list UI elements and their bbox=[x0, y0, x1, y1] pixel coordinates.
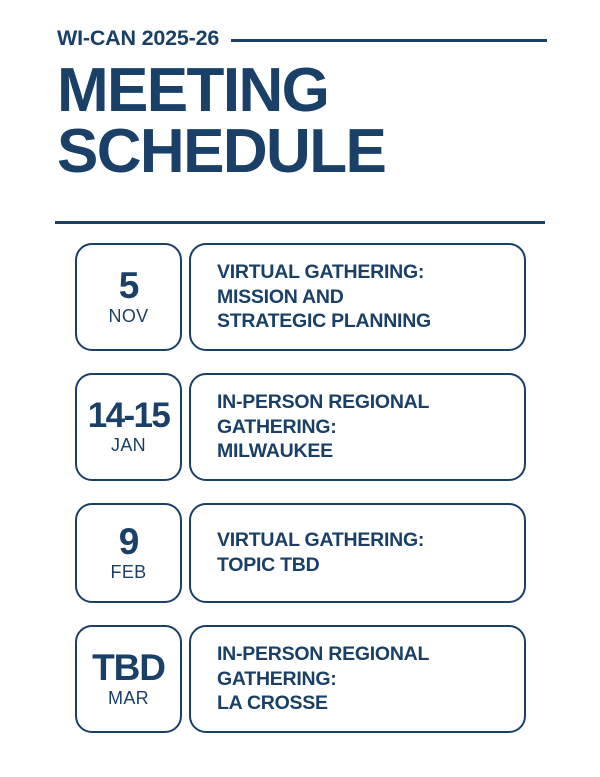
event-day: TBD bbox=[92, 649, 165, 686]
event-title-line-1: IN-PERSON REGIONAL bbox=[217, 390, 429, 415]
eyebrow-divider-rule bbox=[231, 39, 547, 42]
schedule-item[interactable]: TBD MAR IN-PERSON REGIONAL GATHERING: LA… bbox=[75, 625, 526, 733]
event-title-line-1: IN-PERSON REGIONAL bbox=[217, 642, 429, 667]
event-day: 14-15 bbox=[88, 398, 170, 433]
header-bottom-divider bbox=[55, 221, 545, 224]
event-title-line-3: STRATEGIC PLANNING bbox=[217, 309, 431, 334]
event-title-line-2: MISSION AND bbox=[217, 285, 431, 310]
event-title-box: VIRTUAL GATHERING: MISSION AND STRATEGIC… bbox=[189, 243, 526, 351]
event-day: 5 bbox=[119, 267, 138, 304]
event-date-box: 9 FEB bbox=[75, 503, 182, 603]
event-title-line-2: GATHERING: bbox=[217, 415, 429, 440]
event-title: IN-PERSON REGIONAL GATHERING: LA CROSSE bbox=[217, 642, 429, 717]
event-title-box: IN-PERSON REGIONAL GATHERING: LA CROSSE bbox=[189, 625, 526, 733]
event-month: NOV bbox=[109, 305, 149, 328]
event-month: FEB bbox=[111, 561, 147, 584]
event-month: MAR bbox=[108, 687, 149, 710]
schedule-item[interactable]: 14-15 JAN IN-PERSON REGIONAL GATHERING: … bbox=[75, 373, 526, 481]
event-title-line-2: GATHERING: bbox=[217, 667, 429, 692]
page-title: MEETING SCHEDULE bbox=[57, 61, 547, 183]
schedule-item[interactable]: 5 NOV VIRTUAL GATHERING: MISSION AND STR… bbox=[75, 243, 526, 351]
page-title-line-1: MEETING bbox=[57, 61, 547, 122]
event-date-box: TBD MAR bbox=[75, 625, 182, 733]
event-title: IN-PERSON REGIONAL GATHERING: MILWAUKEE bbox=[217, 390, 429, 465]
event-title-line-3: LA CROSSE bbox=[217, 691, 429, 716]
event-title-line-1: VIRTUAL GATHERING: bbox=[217, 260, 431, 285]
event-title-box: VIRTUAL GATHERING: TOPIC TBD bbox=[189, 503, 526, 603]
eyebrow-row: WI-CAN 2025-26 bbox=[57, 26, 547, 52]
schedule-item[interactable]: 9 FEB VIRTUAL GATHERING: TOPIC TBD bbox=[75, 503, 526, 603]
eyebrow-label: WI-CAN 2025-26 bbox=[57, 28, 219, 50]
event-title-line-3: MILWAUKEE bbox=[217, 439, 429, 464]
event-month: JAN bbox=[111, 434, 146, 457]
event-date-box: 5 NOV bbox=[75, 243, 182, 351]
meeting-schedule-poster: WI-CAN 2025-26 MEETING SCHEDULE 5 NOV VI… bbox=[0, 0, 600, 777]
event-day: 9 bbox=[119, 523, 138, 560]
poster-header: WI-CAN 2025-26 MEETING SCHEDULE bbox=[57, 26, 547, 183]
schedule-list: 5 NOV VIRTUAL GATHERING: MISSION AND STR… bbox=[75, 243, 526, 733]
event-title-line-2: TOPIC TBD bbox=[217, 553, 424, 578]
event-title: VIRTUAL GATHERING: TOPIC TBD bbox=[217, 528, 424, 578]
event-title-line-1: VIRTUAL GATHERING: bbox=[217, 528, 424, 553]
event-title-box: IN-PERSON REGIONAL GATHERING: MILWAUKEE bbox=[189, 373, 526, 481]
event-date-box: 14-15 JAN bbox=[75, 373, 182, 481]
event-title: VIRTUAL GATHERING: MISSION AND STRATEGIC… bbox=[217, 260, 431, 335]
page-title-line-2: SCHEDULE bbox=[57, 122, 547, 183]
